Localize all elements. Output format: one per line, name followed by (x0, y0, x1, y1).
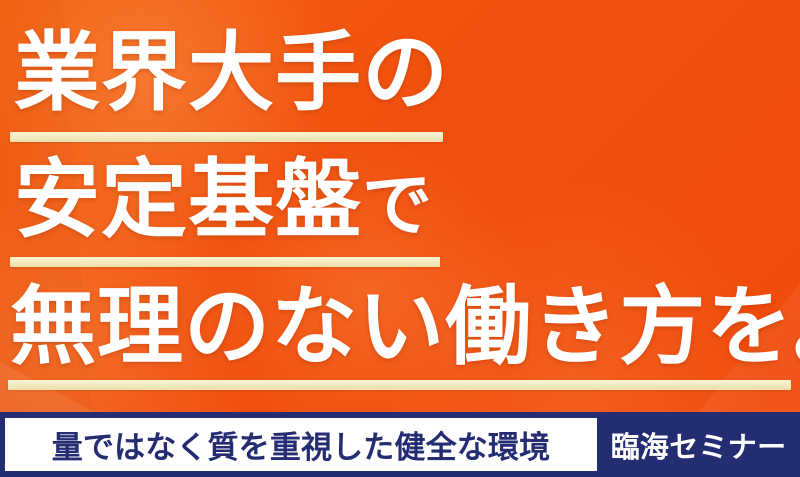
headline-group: 業界大手の 安定基盤で 無理のない働き方を。 (0, 0, 800, 412)
brand-name: 臨海セミナー (597, 424, 800, 466)
headline-line-1: 業界大手の (14, 30, 449, 116)
footer-inner: 量ではなく質を重視した健全な環境 臨海セミナー (0, 412, 800, 477)
headline-line-2: 安定基盤で (14, 157, 433, 243)
headline-line-2-suffix: で (362, 164, 433, 246)
tagline-box: 量ではなく質を重視した健全な環境 (5, 418, 597, 471)
footer-bar: 量ではなく質を重視した健全な環境 臨海セミナー (0, 412, 800, 477)
headline-underline-2 (10, 257, 440, 267)
headline-underline-3 (8, 380, 791, 390)
recruitment-banner: 共に成長できる!! セミナー (0, 0, 800, 477)
tagline-text: 量ではなく質を重視した健全な環境 (52, 422, 550, 467)
headline-line-3: 無理のない働き方を。 (10, 284, 800, 370)
headline-underline-1 (10, 132, 443, 142)
headline-line-2-main: 安定基盤 (14, 150, 362, 250)
